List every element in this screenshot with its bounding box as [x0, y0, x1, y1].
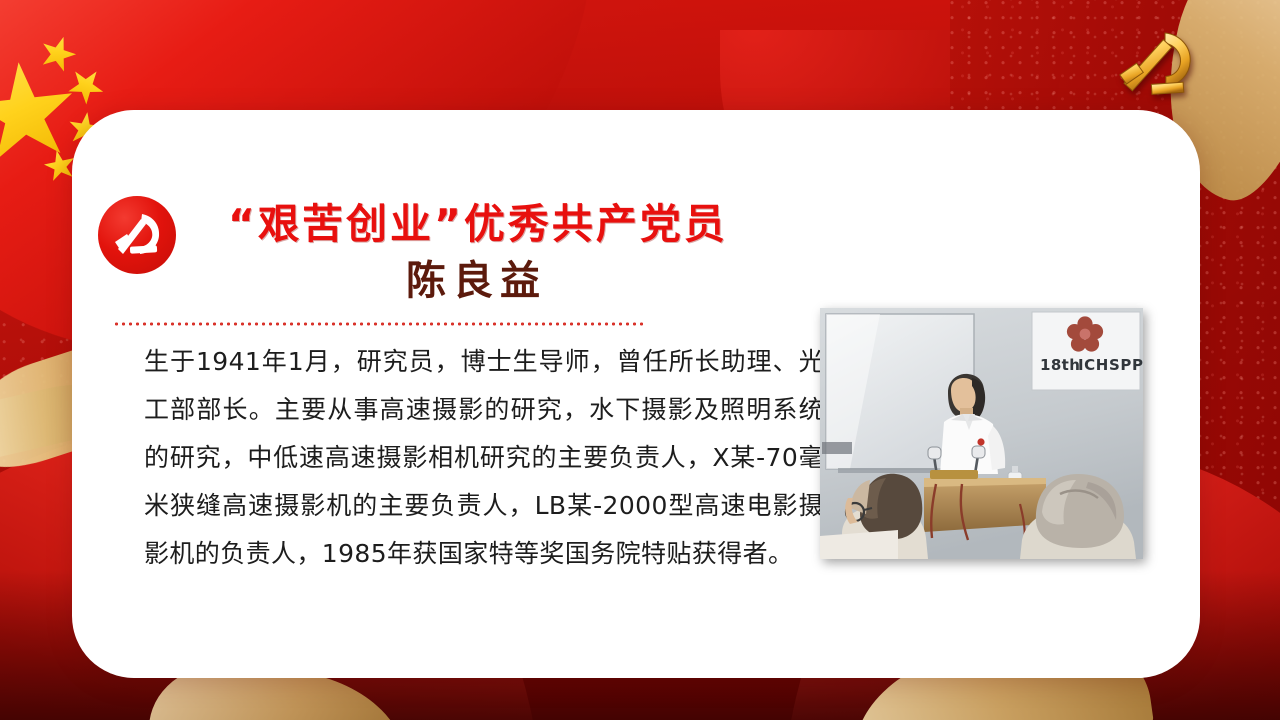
hammer-and-sickle-icon	[98, 196, 176, 274]
biography-photo: 18th ICHSPP	[820, 308, 1143, 559]
svg-text:18th: 18th	[1040, 356, 1080, 374]
dotted-divider	[113, 322, 645, 326]
page-title-line2-name: 陈良益	[406, 248, 547, 306]
flag-star-small-2-icon	[61, 61, 111, 111]
flag-star-large-icon	[0, 57, 81, 171]
flag-star-small-1-icon	[35, 31, 80, 76]
svg-text:ICHSPP: ICHSPP	[1078, 356, 1143, 374]
page-title-line1: “艰苦创业”优秀共产党员	[228, 190, 728, 250]
biography-paragraph: 生于1941年1月，研究员，博士生导师，曾任所长助理、光工部部长。主要从事高速摄…	[144, 338, 824, 578]
content-card: “艰苦创业”优秀共产党员 陈良益 生于1941年1月，研究员，博士生导师，曾任所…	[72, 110, 1200, 678]
slide-root: “艰苦创业”优秀共产党员 陈良益 生于1941年1月，研究员，博士生导师，曾任所…	[0, 0, 1280, 720]
hammer-and-sickle-gold-icon	[1112, 28, 1198, 100]
